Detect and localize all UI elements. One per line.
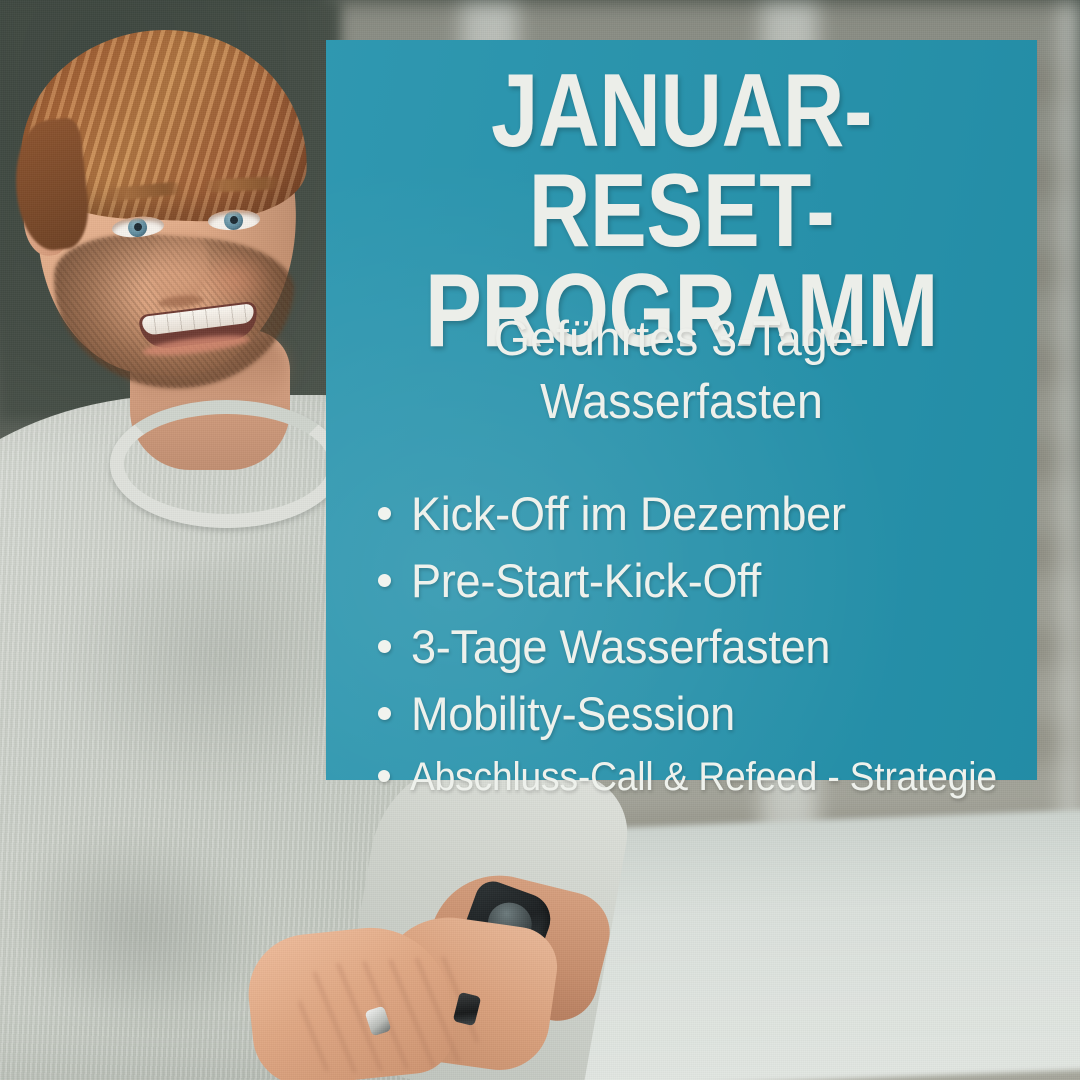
- list-item: Mobility-Session: [378, 688, 1027, 741]
- nose: [150, 228, 208, 304]
- bullet-dot-icon: [378, 574, 391, 587]
- list-item: 3-Tage Wasserfasten: [378, 621, 1027, 674]
- bullet-dot-icon: [378, 507, 391, 520]
- bullet-dot-icon: [378, 640, 391, 653]
- list-item-label: Kick-Off im Dezember: [411, 488, 846, 541]
- bullet-dot-icon: [378, 707, 391, 720]
- bullet-dot-icon: [378, 770, 390, 782]
- tshirt-collar: [110, 400, 343, 528]
- list-item: Pre-Start-Kick-Off: [378, 555, 1027, 608]
- list-item: Kick-Off im Dezember: [378, 488, 1027, 541]
- list-item-label: 3-Tage Wasserfasten: [411, 621, 830, 674]
- info-panel: JANUAR-RESET- PROGRAMM Geführtes 3-Tage-…: [326, 40, 1037, 780]
- page-subtitle: Geführtes 3-Tage-Wasserfasten: [401, 308, 962, 433]
- list-item-label: Abschluss-Call & Refeed - Strategie: [410, 755, 997, 800]
- list-item-label: Pre-Start-Kick-Off: [411, 555, 761, 608]
- poster-canvas: JANUAR-RESET- PROGRAMM Geführtes 3-Tage-…: [0, 0, 1080, 1080]
- list-item: Abschluss-Call & Refeed - Strategie: [378, 755, 1027, 800]
- feature-list: Kick-Off im Dezember Pre-Start-Kick-Off …: [378, 488, 1027, 813]
- list-item-label: Mobility-Session: [411, 688, 735, 741]
